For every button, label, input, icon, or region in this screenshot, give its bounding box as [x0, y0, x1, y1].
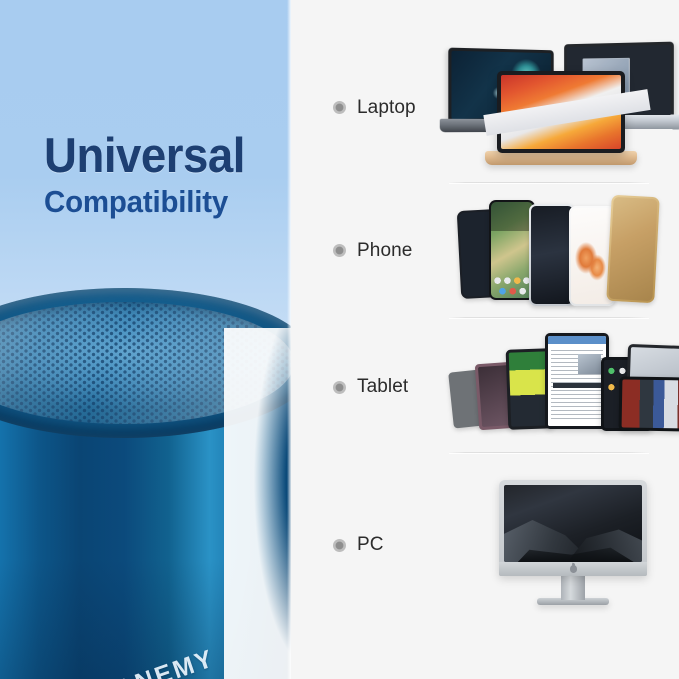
speaker-grille [0, 302, 291, 424]
bullet-icon [333, 539, 346, 552]
tablet-screen [622, 379, 679, 428]
device-row-phone: Phone [291, 188, 679, 313]
imac-chin [499, 562, 647, 576]
macbook-gold [497, 71, 625, 153]
hero-heading: Universal Compatibility [44, 132, 284, 219]
row-label-text: Tablet [357, 376, 408, 398]
row-label-phone: Phone [291, 240, 441, 262]
imac-display [499, 480, 647, 576]
device-row-pc: PC [291, 470, 679, 620]
device-row-laptop: Laptop [291, 35, 679, 180]
bullet-icon [333, 381, 346, 394]
imac-screen [504, 485, 642, 562]
phone-screen [491, 202, 533, 298]
phone-screen [608, 197, 657, 301]
device-row-tablet: Tablet [291, 323, 679, 451]
product-image-bluetooth-speaker: ANEMY [0, 288, 291, 679]
row-label-text: PC [357, 534, 384, 556]
phone-screen [531, 206, 573, 304]
bullet-icon [333, 101, 346, 114]
row-label-tablet: Tablet [291, 376, 441, 398]
webpage-button-bar [553, 383, 602, 388]
phone-gold [606, 195, 659, 303]
tablet-kindle-fire [619, 376, 679, 431]
bullet-icon [333, 244, 346, 257]
macbook-gold-screen [501, 75, 621, 149]
speaker-top-rim [0, 288, 291, 438]
tablet-screen [548, 336, 606, 426]
row-divider [449, 317, 649, 318]
speaker-grille-sheen [0, 302, 291, 424]
row-label-text: Laptop [357, 97, 416, 119]
page-subtitle: Compatibility [44, 186, 272, 219]
imac-stand-neck [561, 574, 585, 600]
right-device-panel: Laptop Phone [291, 0, 679, 679]
device-group-phones [441, 188, 679, 313]
row-label-pc: PC [291, 534, 441, 556]
device-group-pc [441, 470, 679, 620]
apple-logo-icon [570, 565, 577, 573]
row-label-laptop: Laptop [291, 97, 441, 119]
row-label-text: Phone [357, 240, 412, 262]
app-dock-icons [493, 274, 532, 296]
row-divider [449, 452, 649, 453]
tablet-ipad-webpage [545, 333, 609, 429]
left-hero-panel: Universal Compatibility ANEMY [0, 0, 291, 679]
macbook-gold-base [485, 151, 637, 165]
row-divider [449, 182, 649, 183]
page-title: Universal [44, 132, 267, 180]
webpage-image-block [578, 354, 601, 374]
device-group-tablets [441, 323, 679, 451]
device-group-laptops [441, 35, 679, 180]
